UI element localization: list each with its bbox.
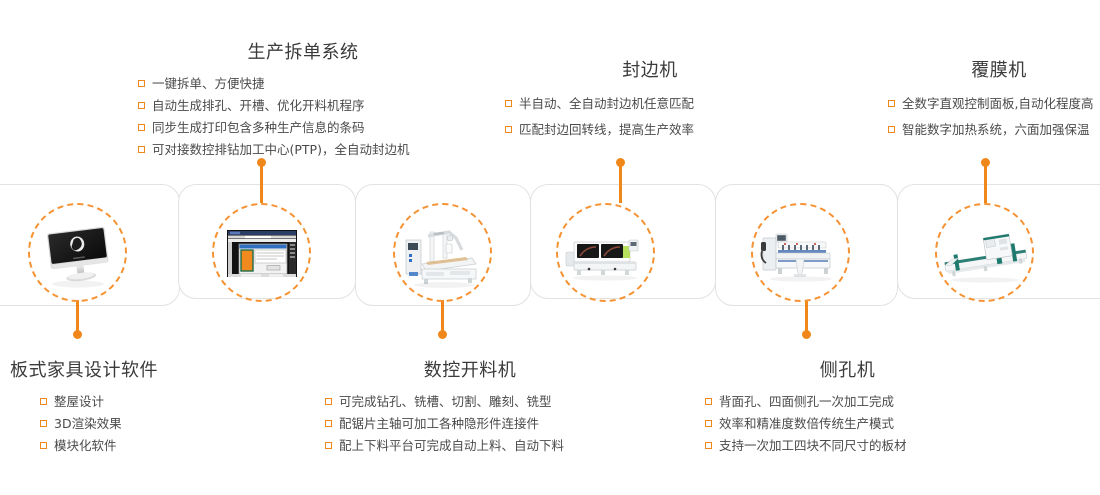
feature-list: 背面孔、四面侧孔一次加工完成 效率和精准度数倍传统生产模式 支持一次加工四块不同… [705, 391, 990, 457]
square-bullet-icon [138, 80, 145, 87]
text-block-side-hole-drill: 侧孔机 背面孔、四面侧孔一次加工完成 效率和精准度数倍传统生产模式 支持一次加工… [705, 356, 990, 457]
node-edge-banding[interactable] [556, 203, 655, 302]
list-item: 配锯片主轴可加工各种隐形件连接件 [325, 413, 615, 435]
connector-stem-1 [76, 300, 79, 334]
square-bullet-icon [40, 442, 47, 449]
list-item: 一键拆单、方便快捷 [138, 73, 468, 95]
square-bullet-icon [888, 126, 895, 133]
node-cnc-router[interactable] [393, 203, 492, 302]
list-item-label: 整屋设计 [54, 391, 104, 413]
text-block-laminating: 覆膜机 全数字直观控制面板,自动化程度高 智能数字加热系统，六面加强保温 [888, 56, 1100, 143]
node-side-hole-drill[interactable] [751, 203, 850, 302]
list-item-label: 配上下料平台可完成自动上料、自动下料 [339, 435, 564, 457]
list-item: 效率和精准度数倍传统生产模式 [705, 413, 990, 435]
block-title: 数控开料机 [325, 356, 615, 382]
list-item-label: 效率和精准度数倍传统生产模式 [719, 413, 894, 435]
list-item-label: 可完成钻孔、铣槽、切割、雕刻、铣型 [339, 391, 552, 413]
node-design-software[interactable] [28, 203, 127, 302]
block-title: 封边机 [505, 56, 795, 82]
connector-dot-4 [616, 158, 625, 167]
square-bullet-icon [705, 398, 712, 405]
list-item-label: 模块化软件 [54, 435, 117, 457]
imac-monitor-icon [35, 216, 121, 290]
square-bullet-icon [138, 124, 145, 131]
node-laminating-machine[interactable] [935, 203, 1034, 302]
text-block-order-split-system: 生产拆单系统 一键拆单、方便快捷 自动生成排孔、开槽、优化开料机程序 同步生成打… [138, 38, 468, 161]
connector-dot-3 [438, 330, 447, 339]
side-hole-drilling-machine-icon [758, 216, 844, 290]
text-block-design-software: 板式家具设计软件 整屋设计 3D渲染效果 模块化软件 [10, 356, 260, 457]
feature-list: 一键拆单、方便快捷 自动生成排孔、开槽、优化开料机程序 同步生成打印包含多种生产… [138, 73, 468, 161]
list-item-label: 智能数字加热系统，六面加强保温 [902, 117, 1090, 143]
connector-stem-4 [619, 163, 622, 203]
list-item: 智能数字加热系统，六面加强保温 [888, 117, 1100, 143]
list-item: 可完成钻孔、铣槽、切割、雕刻、铣型 [325, 391, 615, 413]
square-bullet-icon [325, 398, 332, 405]
square-bullet-icon [40, 398, 47, 405]
square-bullet-icon [325, 442, 332, 449]
square-bullet-icon [705, 420, 712, 427]
square-bullet-icon [888, 100, 895, 107]
edge-banding-machine-icon [563, 216, 649, 290]
list-item-label: 同步生成打印包含多种生产信息的条码 [152, 117, 365, 139]
node-order-split-system[interactable] [212, 203, 311, 302]
connector-stem-2 [260, 163, 263, 203]
list-item: 可对接数控排钻加工中心(PTP)，全自动封边机 [138, 139, 468, 161]
square-bullet-icon [705, 442, 712, 449]
feature-list: 可完成钻孔、铣槽、切割、雕刻、铣型 配锯片主轴可加工各种隐形件连接件 配上下料平… [325, 391, 615, 457]
square-bullet-icon [325, 420, 332, 427]
feature-list: 整屋设计 3D渲染效果 模块化软件 [40, 391, 260, 457]
connector-dot-5 [802, 330, 811, 339]
list-item-label: 支持一次加工四块不同尺寸的板材 [719, 435, 907, 457]
list-item-label: 一键拆单、方便快捷 [152, 73, 265, 95]
connector-dot-6 [981, 158, 990, 167]
list-item: 配上下料平台可完成自动上料、自动下料 [325, 435, 615, 457]
list-item-label: 可对接数控排钻加工中心(PTP)，全自动封边机 [152, 139, 409, 161]
square-bullet-icon [138, 146, 145, 153]
software-screen-icon [219, 216, 305, 290]
square-bullet-icon [40, 420, 47, 427]
connector-stem-3 [441, 300, 444, 334]
block-title: 板式家具设计软件 [10, 356, 260, 382]
block-title: 覆膜机 [888, 56, 1100, 82]
laminating-machine-icon [942, 216, 1028, 290]
list-item: 匹配封边回转线，提高生产效率 [505, 117, 795, 143]
square-bullet-icon [505, 100, 512, 107]
square-bullet-icon [505, 126, 512, 133]
list-item: 半自动、全自动封边机任意匹配 [505, 91, 795, 117]
list-item: 3D渲染效果 [40, 413, 260, 435]
feature-list: 全数字直观控制面板,自动化程度高 智能数字加热系统，六面加强保温 [888, 91, 1100, 143]
block-title: 侧孔机 [705, 356, 990, 382]
list-item-label: 全数字直观控制面板,自动化程度高 [902, 91, 1093, 117]
list-item-label: 匹配封边回转线，提高生产效率 [519, 117, 694, 143]
feature-list: 半自动、全自动封边机任意匹配 匹配封边回转线，提高生产效率 [505, 91, 795, 143]
infographic-canvas: 生产拆单系统 一键拆单、方便快捷 自动生成排孔、开槽、优化开料机程序 同步生成打… [0, 0, 1100, 495]
list-item-label: 自动生成排孔、开槽、优化开料机程序 [152, 95, 365, 117]
connector-stem-6 [984, 163, 987, 203]
list-item: 自动生成排孔、开槽、优化开料机程序 [138, 95, 468, 117]
list-item: 模块化软件 [40, 435, 260, 457]
list-item: 全数字直观控制面板,自动化程度高 [888, 91, 1100, 117]
block-title: 生产拆单系统 [138, 38, 468, 64]
list-item: 背面孔、四面侧孔一次加工完成 [705, 391, 990, 413]
list-item: 同步生成打印包含多种生产信息的条码 [138, 117, 468, 139]
list-item: 整屋设计 [40, 391, 260, 413]
connector-dot-1 [73, 330, 82, 339]
list-item: 支持一次加工四块不同尺寸的板材 [705, 435, 990, 457]
list-item-label: 3D渲染效果 [54, 413, 122, 435]
list-item-label: 配锯片主轴可加工各种隐形件连接件 [339, 413, 539, 435]
cnc-router-icon [400, 216, 486, 290]
list-item-label: 半自动、全自动封边机任意匹配 [519, 91, 694, 117]
square-bullet-icon [138, 102, 145, 109]
list-item-label: 背面孔、四面侧孔一次加工完成 [719, 391, 894, 413]
text-block-cnc-router: 数控开料机 可完成钻孔、铣槽、切割、雕刻、铣型 配锯片主轴可加工各种隐形件连接件… [325, 356, 615, 457]
connector-stem-5 [805, 300, 808, 334]
text-block-edge-banding: 封边机 半自动、全自动封边机任意匹配 匹配封边回转线，提高生产效率 [505, 56, 795, 143]
